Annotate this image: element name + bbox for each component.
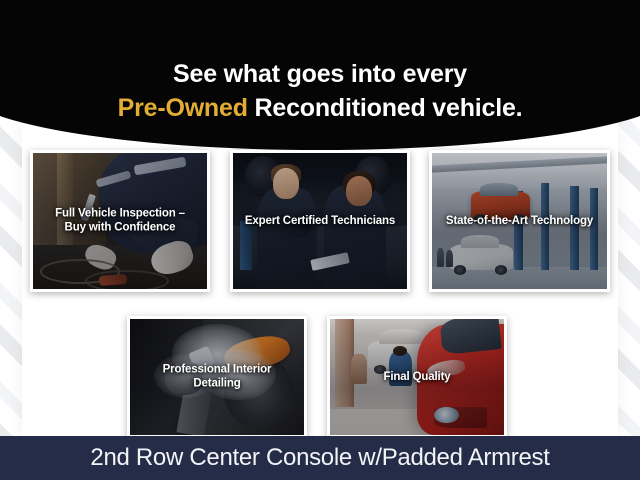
- footer-caption-bar: 2nd Row Center Console w/Padded Armrest: [0, 436, 640, 480]
- card-1-caption: Full Vehicle Inspection – Buy with Confi…: [33, 207, 207, 236]
- header-text-block: See what goes into every Pre-Owned Recon…: [0, 58, 640, 124]
- header-banner: See what goes into every Pre-Owned Recon…: [0, 0, 640, 150]
- card-state-of-the-art-technology[interactable]: State-of-the-Art Technology: [429, 150, 610, 292]
- card-full-vehicle-inspection[interactable]: Full Vehicle Inspection – Buy with Confi…: [30, 150, 210, 292]
- card-expert-certified-technicians[interactable]: Expert Certified Technicians: [230, 150, 410, 292]
- headline-rest: Reconditioned vehicle.: [248, 94, 523, 122]
- headline-line-2: Pre-Owned Reconditioned vehicle.: [0, 92, 640, 124]
- headline-highlight: Pre-Owned: [118, 94, 248, 122]
- card-2-caption: Expert Certified Technicians: [233, 214, 407, 228]
- card-final-quality[interactable]: Final Quality: [327, 316, 507, 438]
- footer-caption-text: 2nd Row Center Console w/Padded Armrest: [90, 444, 549, 472]
- card-3-caption: State-of-the-Art Technology: [432, 214, 607, 228]
- infographic-stage: See what goes into every Pre-Owned Recon…: [0, 0, 640, 480]
- card-4-caption: Professional Interior Detailing: [130, 363, 304, 392]
- card-professional-interior-detailing[interactable]: Professional Interior Detailing: [127, 316, 307, 438]
- headline-line-1: See what goes into every: [0, 58, 640, 90]
- card-5-caption: Final Quality: [330, 370, 504, 384]
